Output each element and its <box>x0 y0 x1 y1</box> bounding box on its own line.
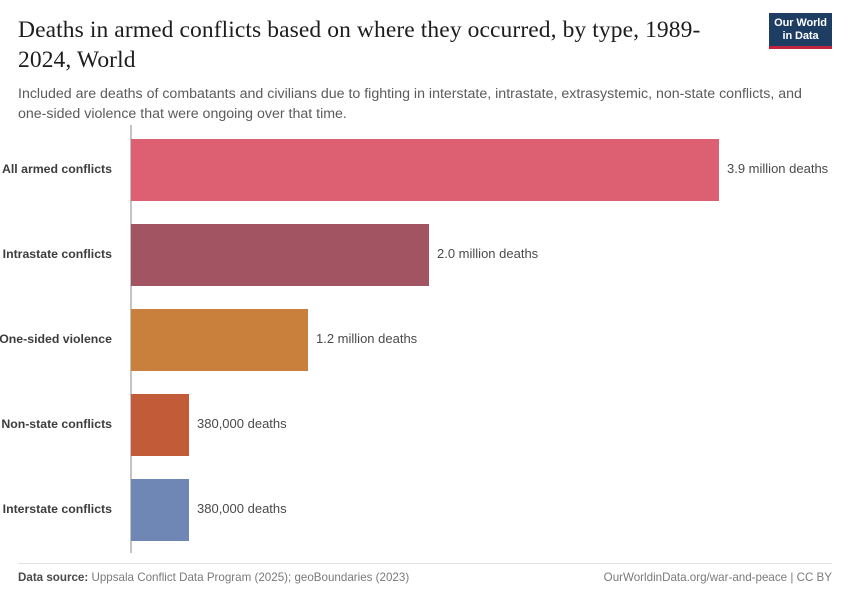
bar-category-label: Non-state conflicts <box>0 417 112 431</box>
bar-rect[interactable] <box>131 224 429 286</box>
bar-row[interactable]: One-sided violence1.2 million deaths <box>0 309 850 371</box>
bar-rect[interactable] <box>131 479 189 541</box>
data-source: Data source: Uppsala Conflict Data Progr… <box>18 571 409 584</box>
bar-value-label: 3.9 million deaths <box>727 161 828 176</box>
chart-subtitle: Included are deaths of combatants and ci… <box>18 75 818 124</box>
bar-value-label: 2.0 million deaths <box>437 246 538 261</box>
bar-value-label: 380,000 deaths <box>197 501 287 516</box>
bar-row[interactable]: Interstate conflicts380,000 deaths <box>0 479 850 541</box>
attribution-link[interactable]: OurWorldinData.org/war-and-peace | CC BY <box>604 571 832 584</box>
chart-footer: Data source: Uppsala Conflict Data Progr… <box>18 563 832 587</box>
data-source-text: Uppsala Conflict Data Program (2025); ge… <box>91 571 409 584</box>
bar-series: All armed conflicts3.9 million deathsInt… <box>0 125 850 555</box>
bar-row[interactable]: Non-state conflicts380,000 deaths <box>0 394 850 456</box>
bar-row[interactable]: Intrastate conflicts2.0 million deaths <box>0 224 850 286</box>
bar-value-label: 1.2 million deaths <box>316 331 417 346</box>
chart-header: Deaths in armed conflicts based on where… <box>18 12 832 112</box>
bar-value-label: 380,000 deaths <box>197 416 287 431</box>
bar-category-label: Interstate conflicts <box>0 502 112 516</box>
bar-row[interactable]: All armed conflicts3.9 million deaths <box>0 139 850 201</box>
page-title: Deaths in armed conflicts based on where… <box>18 12 718 75</box>
bar-rect[interactable] <box>131 139 719 201</box>
owid-logo[interactable]: Our World in Data <box>769 13 832 49</box>
owid-logo-line1: Our World <box>774 17 827 30</box>
bar-category-label: One-sided violence <box>0 332 112 346</box>
owid-logo-line2: in Data <box>774 30 827 43</box>
bar-rect[interactable] <box>131 394 189 456</box>
bar-category-label: Intrastate conflicts <box>0 247 112 261</box>
bar-category-label: All armed conflicts <box>0 162 112 176</box>
bar-rect[interactable] <box>131 309 308 371</box>
bar-chart: All armed conflicts3.9 million deathsInt… <box>0 125 850 555</box>
data-source-label: Data source: <box>18 571 88 584</box>
